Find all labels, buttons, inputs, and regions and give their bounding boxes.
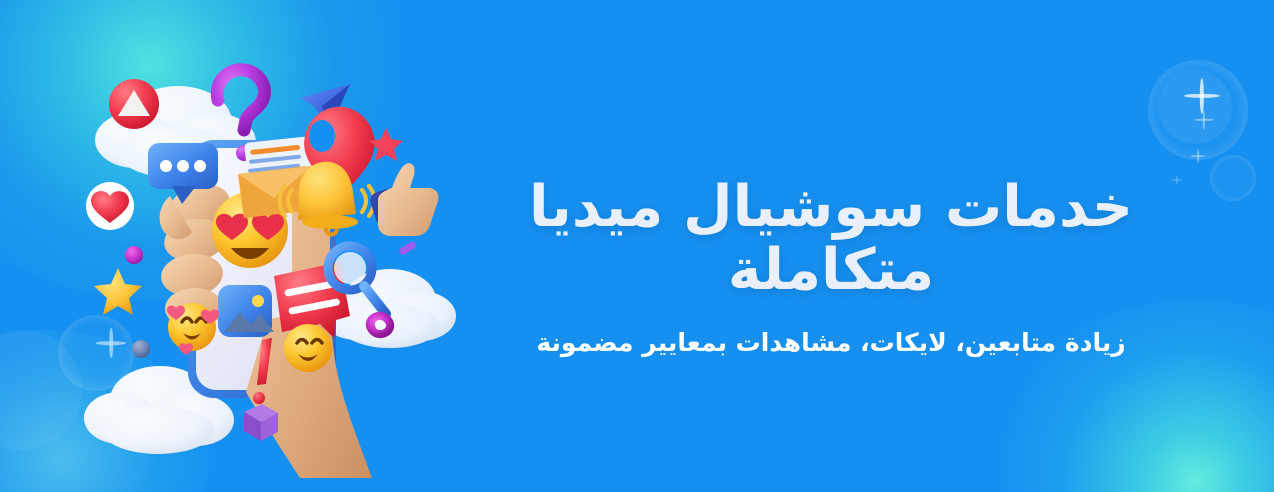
banner-headline: خدمات سوشيال ميديا متكاملة	[426, 176, 1236, 301]
play-button-icon	[109, 79, 159, 129]
sparkle-icon	[1194, 110, 1214, 130]
heart-icon	[86, 182, 134, 230]
bubble-decoration	[1158, 70, 1232, 144]
photo-icon	[218, 285, 274, 337]
sparkle-icon	[1184, 78, 1220, 114]
star-icon	[369, 128, 403, 161]
banner-subtitle: زيادة متابعين، لايكات، مشاهدات بمعايير م…	[426, 327, 1236, 358]
hero-banner: خدمات سوشيال ميديا متكاملة زيادة متابعين…	[0, 0, 1274, 492]
star-icon	[94, 268, 142, 315]
social-media-illustration	[0, 0, 470, 492]
confetti-icon	[398, 240, 417, 255]
sparkle-icon	[1191, 149, 1205, 163]
banner-copy: خدمات سوشيال ميديا متكاملة زيادة متابعين…	[426, 176, 1236, 359]
bubble-decoration	[1148, 60, 1248, 160]
relieved-emoji	[284, 324, 332, 372]
sphere-decoration	[125, 246, 143, 264]
sphere-decoration	[132, 340, 150, 358]
